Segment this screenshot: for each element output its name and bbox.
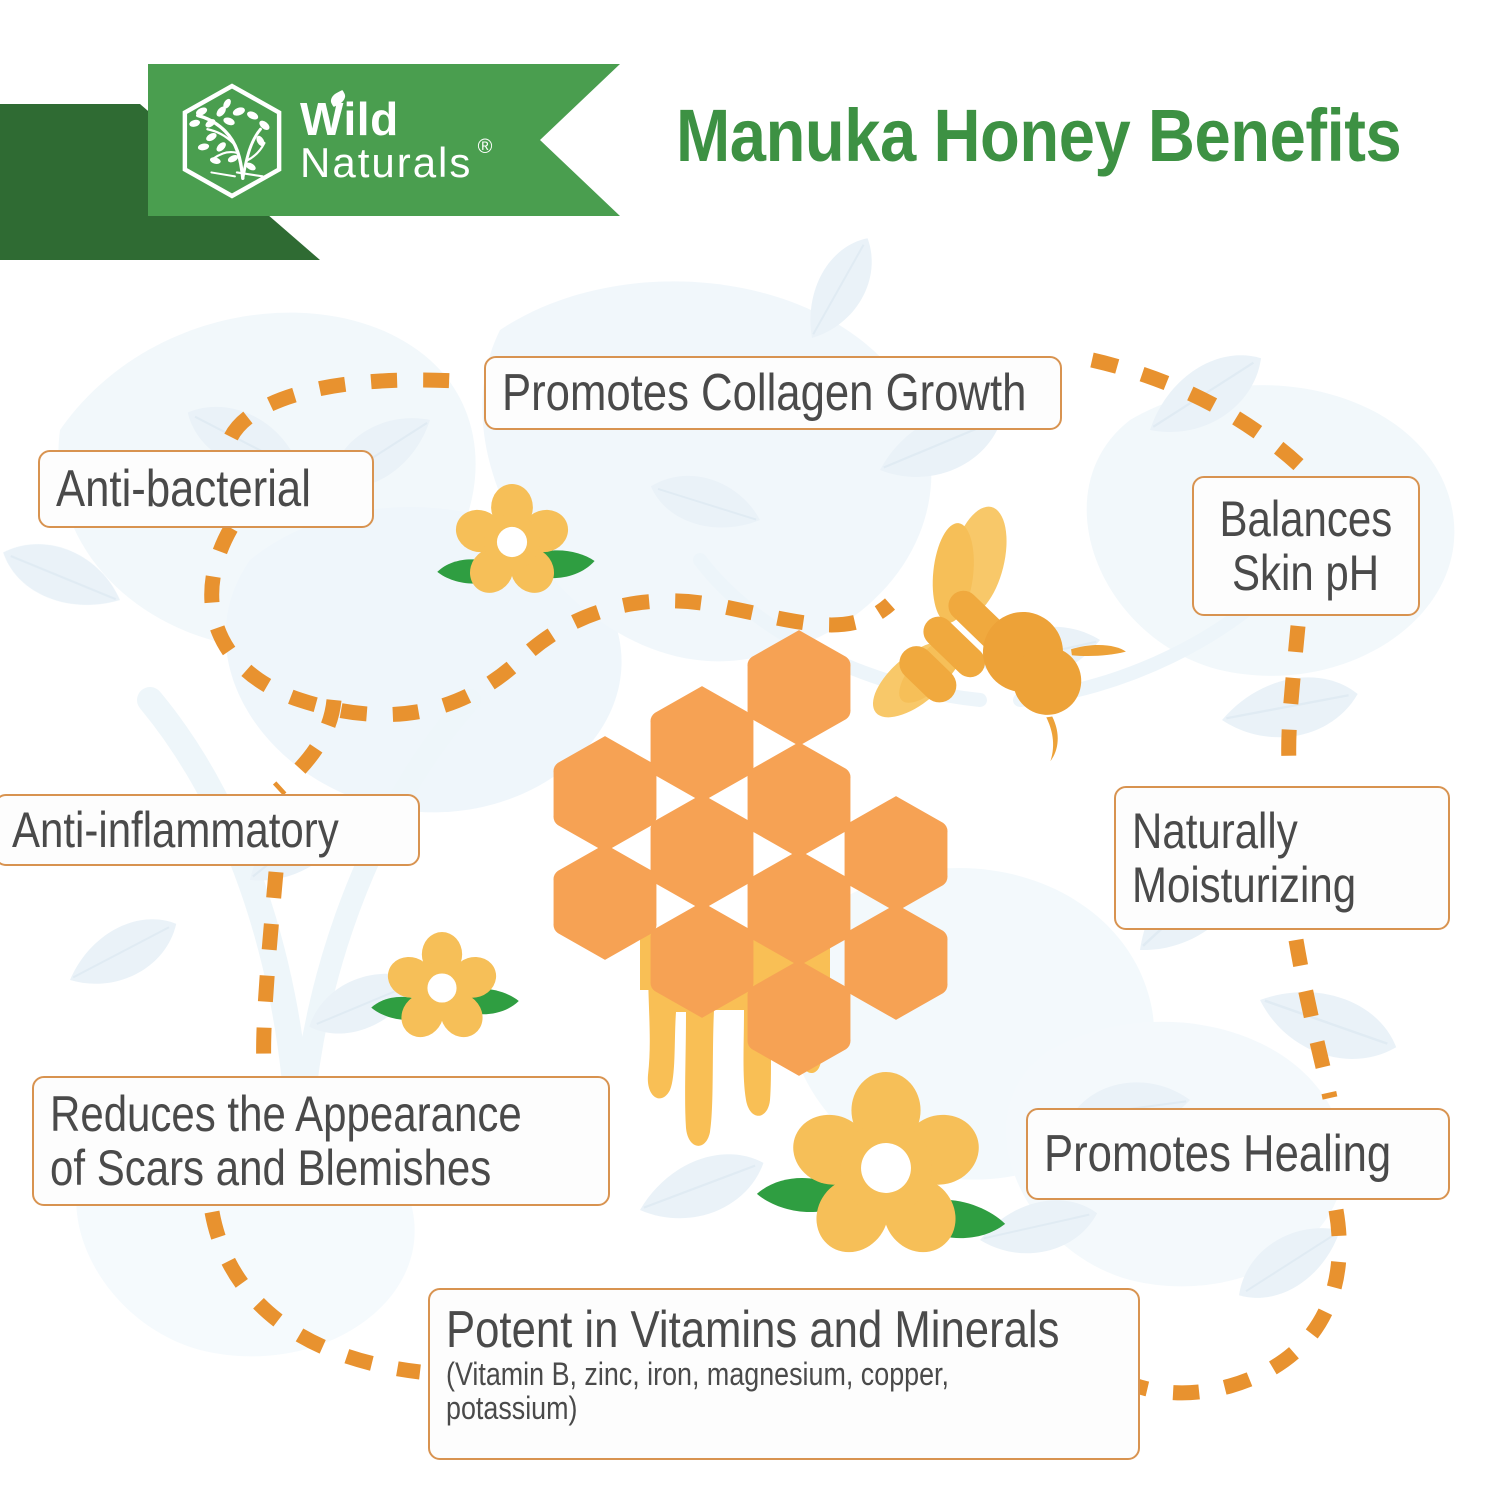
benefit-label-line-2: Skin pH <box>1232 546 1379 600</box>
benefit-sublabel-line-1: (Vitamin B, zinc, iron, magnesium, coppe… <box>446 1358 1014 1392</box>
benefit-label-line-1: Balances <box>1220 492 1393 546</box>
flower-icon <box>370 932 520 1045</box>
benefit-sublabel-line-2: potassium) <box>446 1392 1014 1426</box>
header: Wild Naturals ® Manuka Honey Benefits <box>0 0 1500 270</box>
benefit-promotes-collagen-growth[interactable]: Promotes Collagen Growth <box>484 356 1062 430</box>
benefit-label-line-1: Naturally <box>1132 804 1384 858</box>
benefit-naturally-moisturizing[interactable]: Naturally Moisturizing <box>1114 786 1450 930</box>
benefit-balances-skin-ph[interactable]: Balances Skin pH <box>1192 476 1420 616</box>
benefit-promotes-healing[interactable]: Promotes Healing <box>1026 1108 1450 1200</box>
flower-icon <box>436 484 595 601</box>
bee-icon <box>836 482 1140 786</box>
logo-line-2: Naturals ® <box>300 142 472 183</box>
benefit-label: Anti-inflammatory <box>12 803 340 857</box>
benefit-reduces-scars-and-blemishes[interactable]: Reduces the Appearance of Scars and Blem… <box>32 1076 610 1206</box>
benefit-label: Anti-bacterial <box>56 461 308 517</box>
benefit-potent-in-vitamins-and-minerals[interactable]: Potent in Vitamins and Minerals (Vitamin… <box>428 1288 1140 1460</box>
brand-logo: Wild Naturals ® <box>178 78 518 203</box>
logo-line-1: Wild <box>300 97 399 142</box>
benefit-label-line-2: Moisturizing <box>1132 858 1384 912</box>
benefit-label-line-2: of Scars and Blemishes <box>50 1141 505 1195</box>
benefit-label-line-1: Reduces the Appearance <box>50 1087 505 1141</box>
flower-icon <box>755 1072 1007 1266</box>
benefit-label: Potent in Vitamins and Minerals <box>446 1302 1014 1358</box>
infographic-canvas: Wild Naturals ® Manuka Honey Benefits Pr… <box>0 0 1500 1500</box>
benefit-anti-inflammatory[interactable]: Anti-inflammatory <box>0 794 420 866</box>
registered-mark: ® <box>478 138 495 158</box>
benefit-anti-bacterial[interactable]: Anti-bacterial <box>38 450 374 528</box>
benefit-label: Promotes Collagen Growth <box>502 365 957 421</box>
page-title: Manuka Honey Benefits <box>676 93 1371 185</box>
hexagon-tree-logo-icon <box>178 82 286 200</box>
benefit-label: Promotes Healing <box>1044 1126 1370 1182</box>
